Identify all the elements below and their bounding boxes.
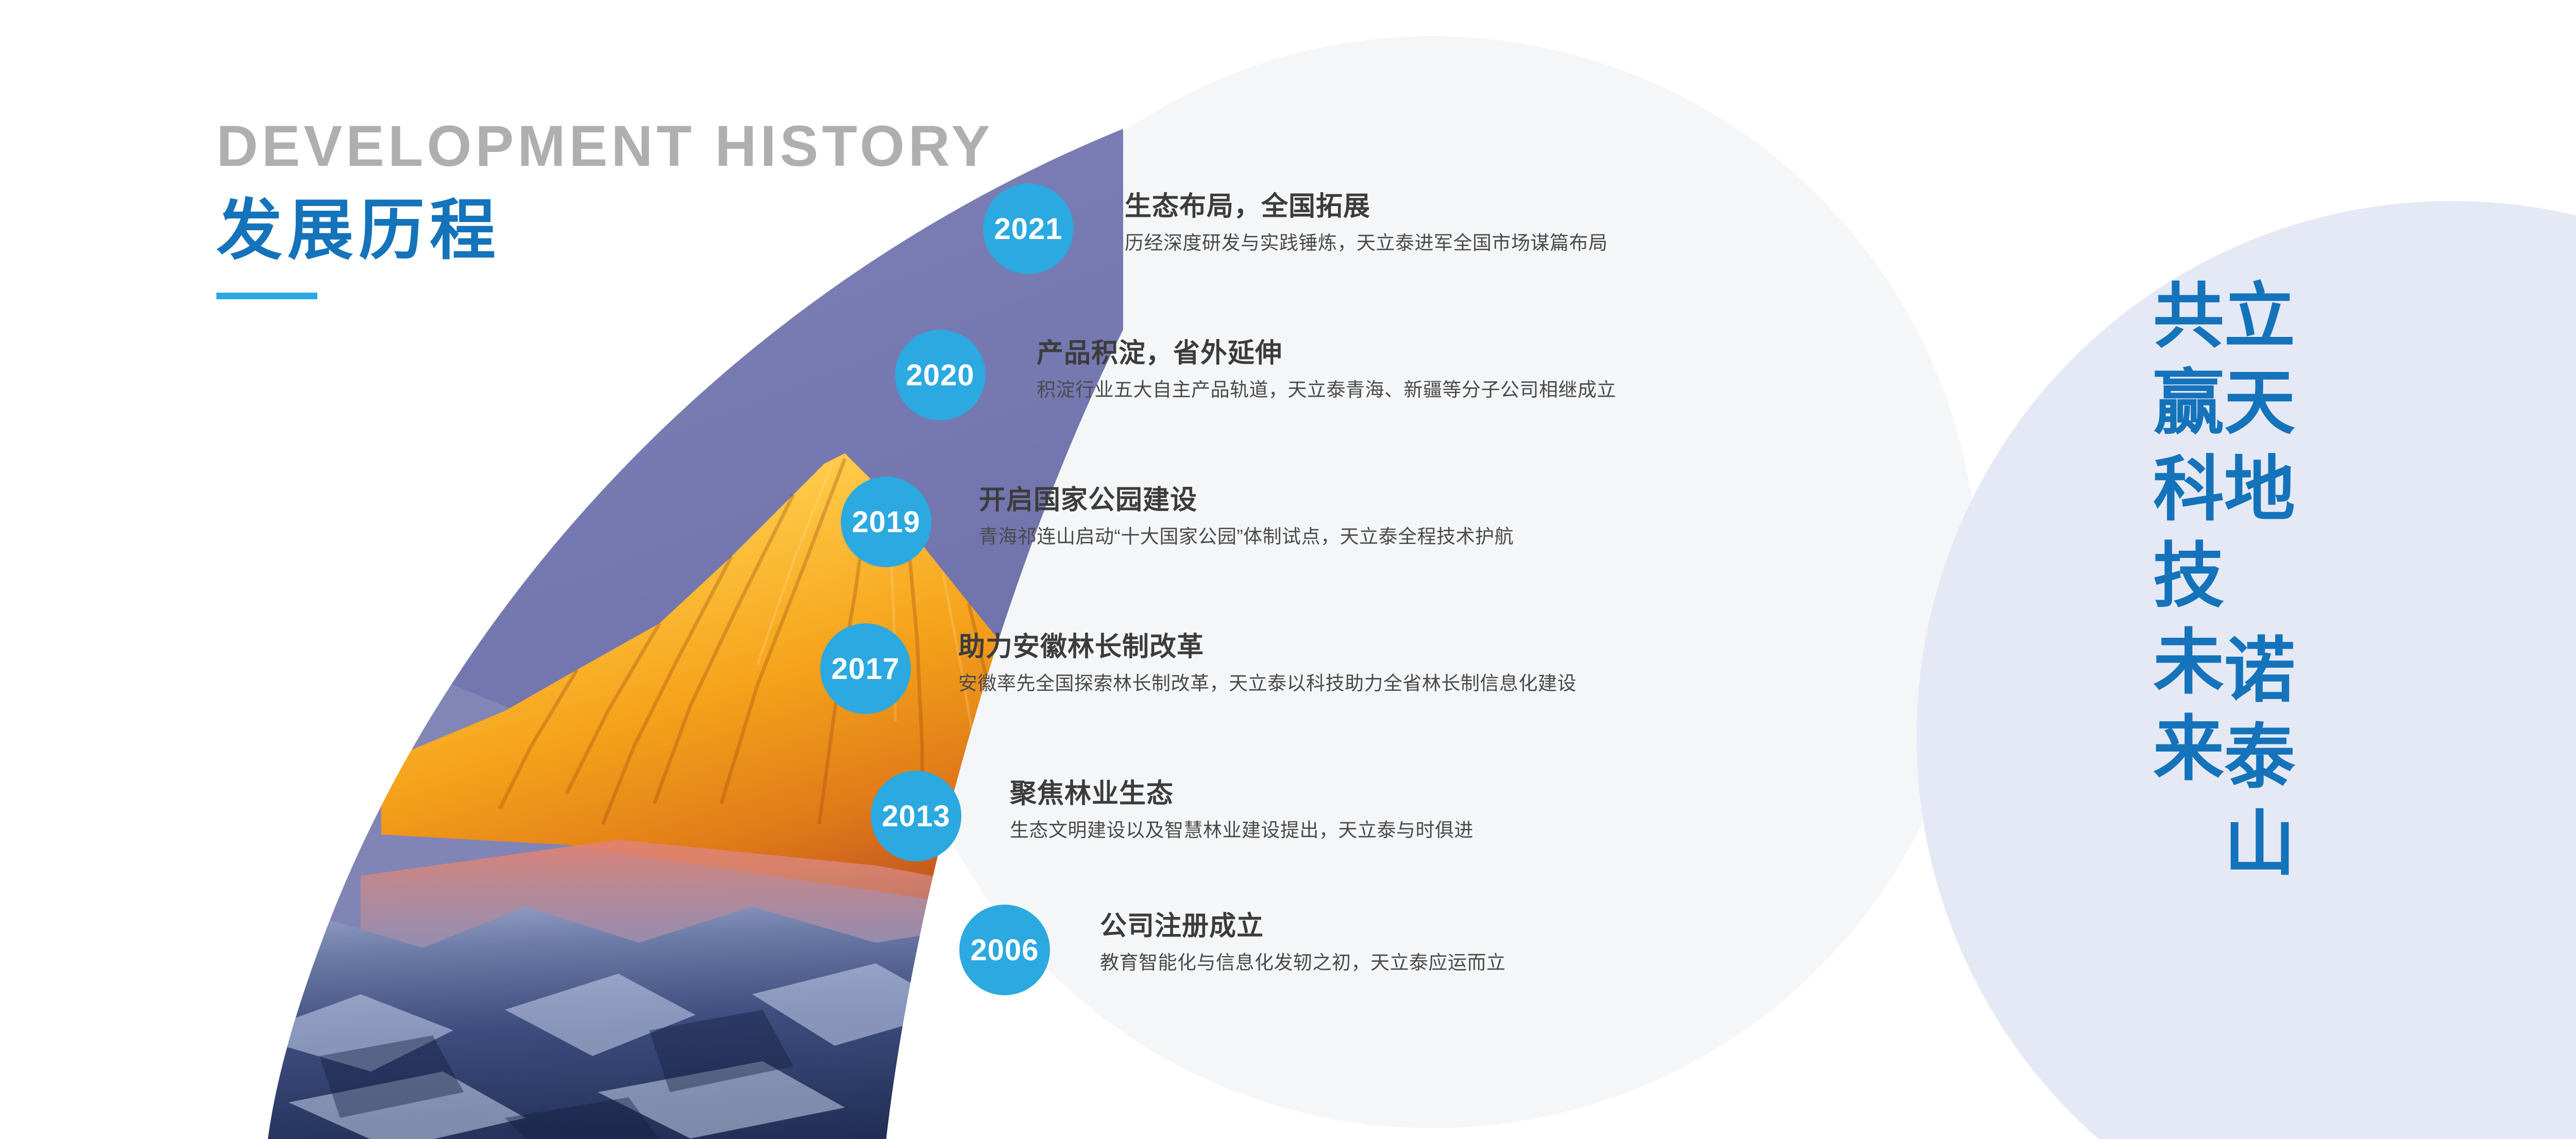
slide-canvas: DEVELOPMENT HISTORY 发展历程 2021 生态布局，全国拓展 … [0, 0, 2576, 1139]
timeline-entry-title: 聚焦林业生态 [1010, 780, 1473, 807]
timeline-entry-desc: 积淀行业五大自主产品轨道，天立泰青海、新疆等分子公司相继成立 [1037, 380, 1616, 399]
slogan-column-left: 共赢科技未来 [2146, 278, 2217, 892]
timeline-year-badge[interactable]: 2019 [841, 477, 931, 567]
timeline-entry-text: 生态布局，全国拓展 历经深度研发与实践锤炼，天立泰进军全国市场谋篇布局 [1125, 193, 1608, 252]
timeline-entry-text: 开启国家公园建设 青海祁连山启动“十大国家公园”体制试点，天立泰全程技术护航 [979, 487, 1514, 546]
timeline-entry-text: 助力安徽林长制改革 安徽率先全国探索林长制改革，天立泰以科技助力全省林长制信息化… [958, 634, 1577, 693]
timeline-entry-title: 助力安徽林长制改革 [958, 634, 1577, 660]
slogan-column-right: 立天地 诺泰山 [2217, 278, 2289, 892]
timeline-entry-desc: 安徽率先全国探索林长制改革，天立泰以科技助力全省林长制信息化建设 [958, 674, 1577, 693]
timeline-year-badge[interactable]: 2020 [895, 330, 986, 420]
timeline-entry-text: 公司注册成立 教育智能化与信息化发轫之初，天立泰应运而立 [1100, 913, 1506, 972]
timeline-entry-title: 生态布局，全国拓展 [1125, 193, 1608, 220]
timeline-entry-title: 开启国家公园建设 [979, 487, 1514, 514]
timeline-entry-title: 产品积淀，省外延伸 [1037, 340, 1616, 367]
timeline-year-badge[interactable]: 2021 [983, 183, 1074, 274]
timeline-entry-desc: 青海祁连山启动“十大国家公园”体制试点，天立泰全程技术护航 [979, 527, 1514, 546]
timeline-year-badge[interactable]: 2006 [959, 905, 1050, 995]
timeline-entry-desc: 生态文明建设以及智慧林业建设提出，天立泰与时俱进 [1010, 821, 1473, 840]
timeline-year-badge[interactable]: 2013 [871, 771, 961, 861]
timeline-entry-title: 公司注册成立 [1100, 913, 1506, 940]
vertical-slogan: 共赢科技未来 立天地 诺泰山 [2097, 278, 2576, 892]
timeline-entry-desc: 教育智能化与信息化发轫之初，天立泰应运而立 [1100, 953, 1506, 972]
timeline-year-badge[interactable]: 2017 [820, 623, 911, 714]
timeline-entry-text: 产品积淀，省外延伸 积淀行业五大自主产品轨道，天立泰青海、新疆等分子公司相继成立 [1037, 340, 1616, 399]
timeline-entry-text: 聚焦林业生态 生态文明建设以及智慧林业建设提出，天立泰与时俱进 [1010, 780, 1473, 840]
timeline-entry-desc: 历经深度研发与实践锤炼，天立泰进军全国市场谋篇布局 [1125, 233, 1608, 252]
